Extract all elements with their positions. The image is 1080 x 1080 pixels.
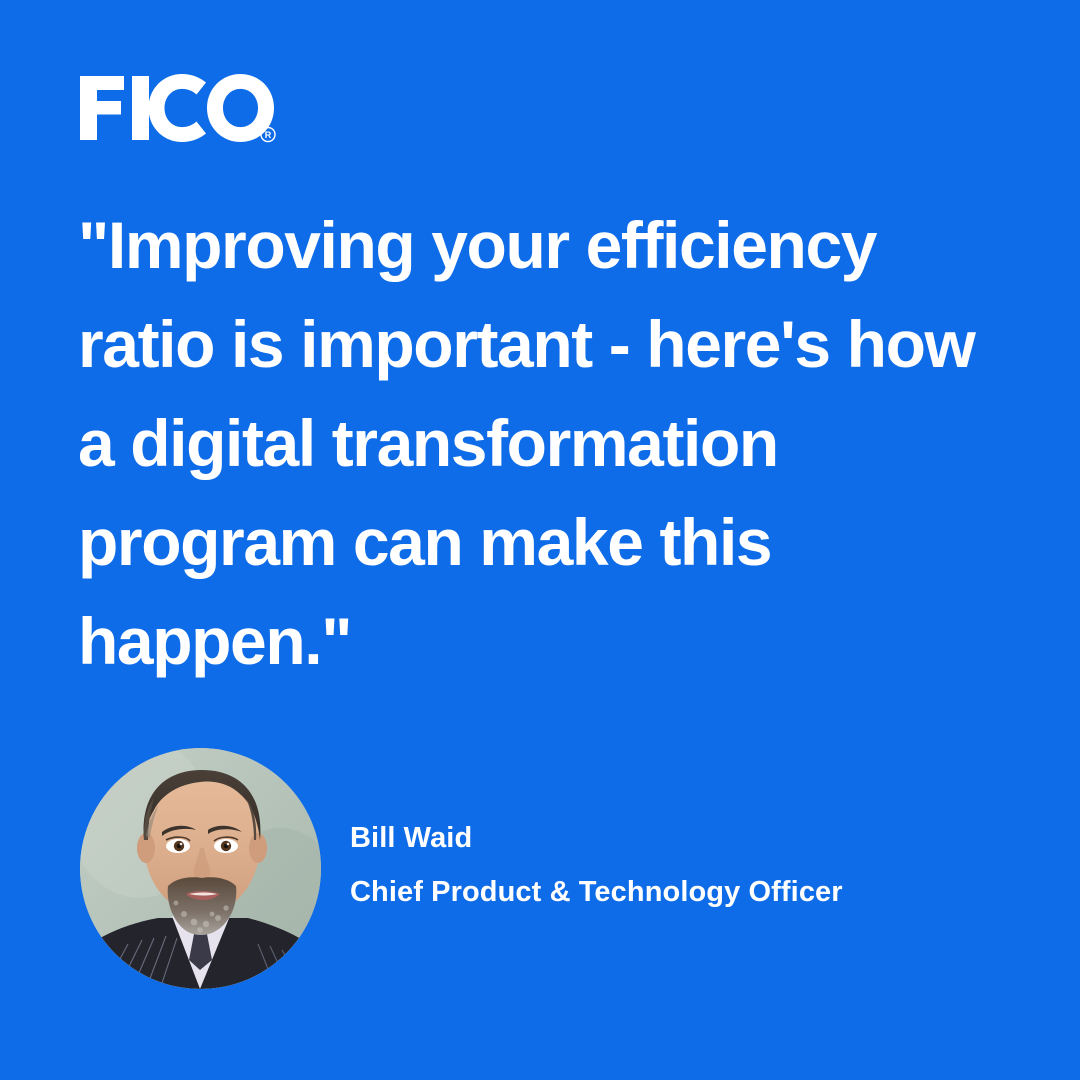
fico-logo-mark: R [78,72,278,144]
quote-card: R "Improving your efficiency ratio is im… [0,0,1080,1080]
quote-line-1: "Improving your efficiency [78,196,1008,295]
quote-line-4: program can make this [78,493,1008,592]
avatar-portrait [80,748,321,989]
quote-line-2: ratio is important - here's how [78,295,1008,394]
avatar [80,748,321,989]
fico-logo: R [78,72,278,144]
quote-line-3: a digital transformation [78,394,1008,493]
person-name: Bill Waid [350,822,472,855]
quote-line-5: happen." [78,592,1008,691]
registered-trademark-icon: R [261,128,275,142]
attribution-block: Bill Waid Chief Product & Technology Off… [80,748,1020,1008]
svg-text:R: R [265,130,272,140]
attribution-text: Bill Waid Chief Product & Technology Off… [350,748,1010,989]
person-title: Chief Product & Technology Officer [350,876,843,909]
quote-block: "Improving your efficiency ratio is impo… [78,196,1008,691]
